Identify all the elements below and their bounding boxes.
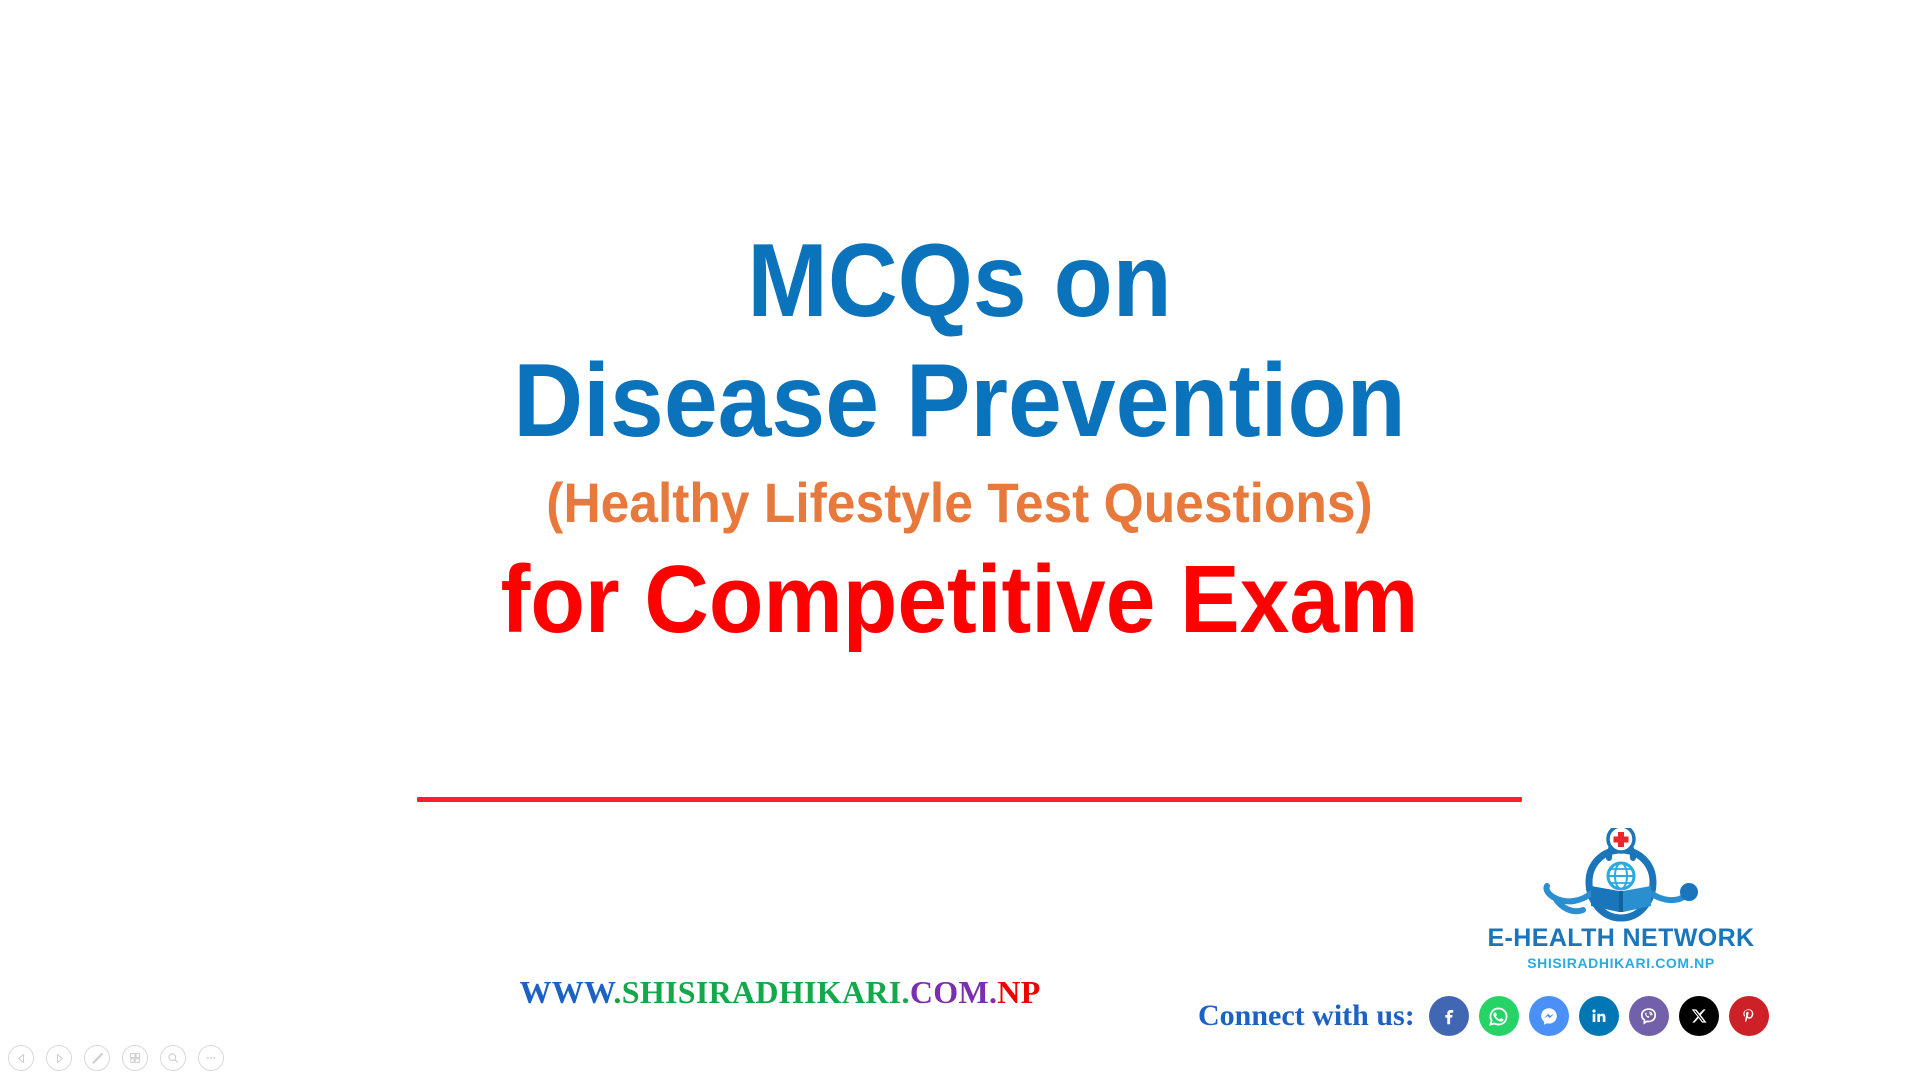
presenter-toolbar[interactable]	[8, 1045, 224, 1071]
previous-slide-button[interactable]	[8, 1045, 34, 1071]
logo-subtitle: SHISIRADHIKARI.COM.NP	[1487, 956, 1755, 970]
page-title-line-2: Disease Prevention	[67, 348, 1852, 454]
messenger-icon	[1537, 1004, 1561, 1028]
next-slide-button[interactable]	[46, 1045, 72, 1071]
viber-icon	[1637, 1005, 1660, 1028]
x-twitter-icon	[1689, 1006, 1709, 1026]
url-part-np: NP	[997, 974, 1040, 1010]
social-link-whatsapp[interactable]	[1479, 996, 1519, 1036]
url-part-www: WWW	[519, 974, 613, 1010]
logo-title: E-HEALTH NETWORK	[1487, 926, 1755, 951]
facebook-icon	[1438, 1005, 1460, 1027]
url-dot-1: .	[613, 974, 621, 1010]
url-part-com: COM	[910, 974, 989, 1010]
slide-overview-button[interactable]	[122, 1045, 148, 1071]
social-link-facebook[interactable]	[1429, 996, 1469, 1036]
pen-icon	[90, 1051, 105, 1066]
connect-with-us-row: Connect with us:	[1198, 996, 1769, 1036]
pen-tool-button[interactable]	[84, 1045, 110, 1071]
triangle-right-icon	[53, 1052, 66, 1065]
connect-label: Connect with us:	[1198, 999, 1415, 1033]
e-health-network-emblem-icon	[1531, 828, 1711, 928]
linkedin-icon	[1588, 1005, 1610, 1027]
ellipsis-icon	[204, 1051, 218, 1065]
social-link-linkedin[interactable]	[1579, 996, 1619, 1036]
url-part-domain: SHISIRADHIKARI	[622, 974, 902, 1010]
exam-tagline: for Competitive Exam	[67, 545, 1852, 655]
title-block: MCQs on Disease Prevention (Healthy Life…	[0, 228, 1919, 655]
social-link-messenger[interactable]	[1529, 996, 1569, 1036]
url-dot-2: .	[902, 974, 910, 1010]
page-title-line-1: MCQs on	[67, 228, 1852, 334]
social-link-pinterest[interactable]	[1729, 996, 1769, 1036]
pinterest-icon	[1738, 1005, 1760, 1027]
more-options-button[interactable]	[198, 1045, 224, 1071]
presentation-slide: MCQs on Disease Prevention (Healthy Life…	[0, 0, 1919, 1079]
social-link-x-twitter[interactable]	[1679, 996, 1719, 1036]
page-subtitle: (Healthy Lifestyle Test Questions)	[77, 470, 1842, 535]
divider-rule	[417, 797, 1522, 802]
grid-icon	[128, 1051, 142, 1065]
social-link-viber[interactable]	[1629, 996, 1669, 1036]
triangle-left-icon	[15, 1052, 28, 1065]
zoom-tool-button[interactable]	[160, 1045, 186, 1071]
brand-logo: E-HEALTH NETWORK SHISIRADHIKARI.COM.NP	[1487, 828, 1755, 970]
magnifier-icon	[166, 1051, 180, 1065]
whatsapp-icon	[1487, 1005, 1510, 1028]
